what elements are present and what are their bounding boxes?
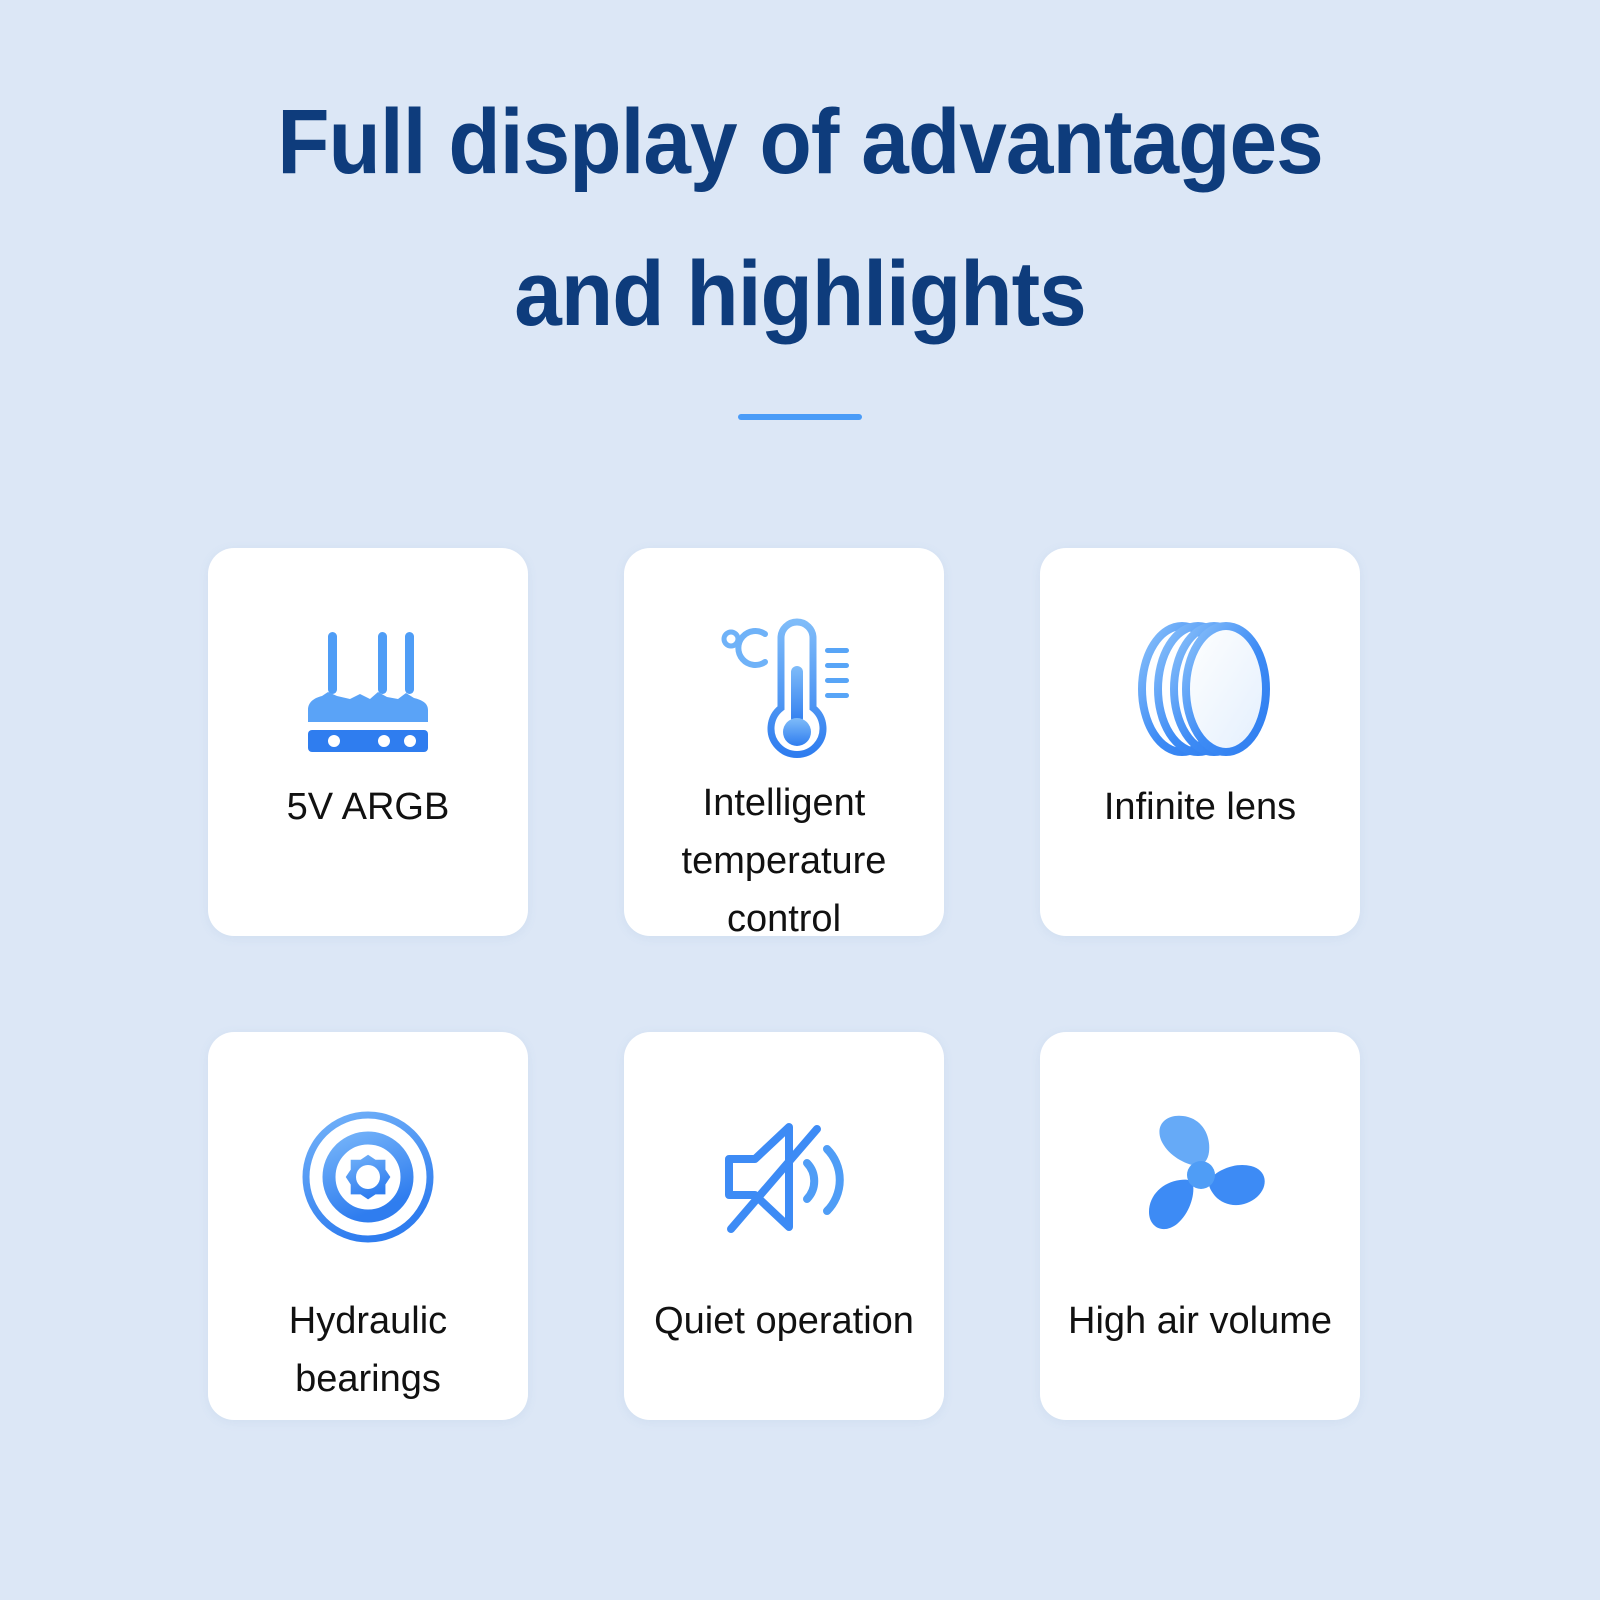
feature-card-label: 5V ARGB <box>287 778 450 836</box>
stacked-lens-icon <box>1130 614 1270 764</box>
speaker-mute-icon <box>709 1092 859 1262</box>
feature-card-high-air-volume[interactable]: High air volume <box>1040 1032 1360 1420</box>
feature-card-label: Hydraulic bearings <box>289 1292 447 1408</box>
page-header: Full display of advantages and highlight… <box>0 0 1600 420</box>
feature-card-quiet-operation[interactable]: Quiet operation <box>624 1032 944 1420</box>
feature-card-hydraulic-bearings[interactable]: Hydraulic bearings <box>208 1032 528 1420</box>
router-antenna-icon <box>300 614 436 764</box>
feature-card-grid: 5V ARGB <box>208 548 1384 1420</box>
title-divider <box>738 414 862 420</box>
feature-card-label: Infinite lens <box>1104 778 1296 836</box>
feature-card-label: Intelligent temperature control <box>682 774 887 948</box>
bearing-ring-icon <box>298 1092 438 1262</box>
feature-card-label: Quiet operation <box>654 1292 914 1350</box>
page-title: Full display of advantages and highlight… <box>56 0 1544 370</box>
feature-card-temperature-control[interactable]: Intelligent temperature control <box>624 548 944 936</box>
feature-card-label: High air volume <box>1068 1292 1332 1350</box>
fan-propeller-icon <box>1125 1092 1275 1262</box>
thermometer-celsius-icon <box>709 614 859 760</box>
feature-card-infinite-lens[interactable]: Infinite lens <box>1040 548 1360 936</box>
feature-card-5v-argb[interactable]: 5V ARGB <box>208 548 528 936</box>
